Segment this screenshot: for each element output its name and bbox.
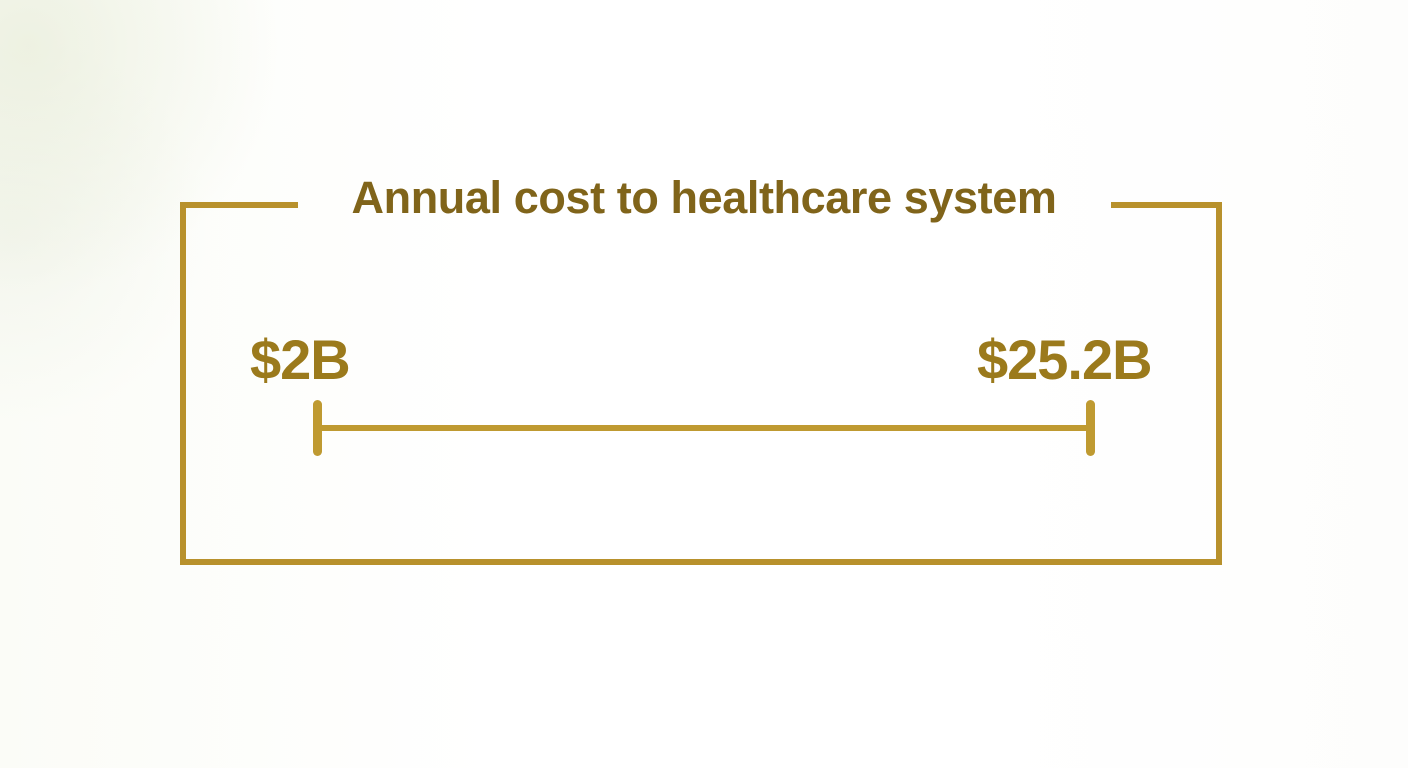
range-bar-line [316, 425, 1092, 431]
range-bar-cap-high [1086, 400, 1095, 456]
range-bar-cap-low [313, 400, 322, 456]
slide-canvas: Annual cost to healthcare system $2B $25… [0, 0, 1408, 768]
frame-edge-bottom [180, 559, 1222, 565]
range-high-value-label: $25.2B [977, 327, 1152, 392]
range-bar [313, 400, 1095, 456]
frame-edge-left [180, 202, 186, 565]
frame-edge-right [1216, 202, 1222, 565]
chart-title: Annual cost to healthcare system [0, 172, 1408, 224]
range-low-value-label: $2B [250, 327, 350, 392]
